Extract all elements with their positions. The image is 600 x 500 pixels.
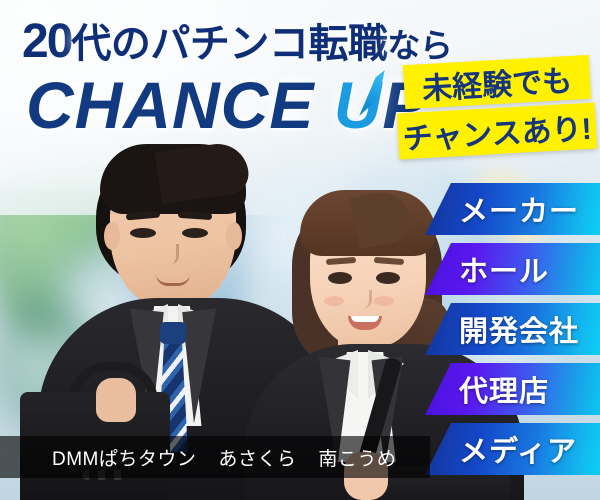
headline-number: 20 [22, 15, 71, 68]
eye [182, 228, 208, 238]
nose [166, 244, 179, 264]
credit-site-name: DMMぱちタウン [52, 444, 196, 471]
category-button-hall[interactable]: ホール [425, 243, 600, 295]
ear [104, 222, 120, 250]
ear [226, 222, 242, 250]
hand [96, 378, 136, 422]
chance-up-banner[interactable]: 20代のパチンコ転職なら CHANCE UP 未経験でも チャンスあり! メーカ… [0, 0, 600, 500]
credit-bar: DMMぱちタウン あさくら 南こうめ [0, 436, 430, 478]
headline-tail: なら [387, 27, 452, 64]
category-button-maker[interactable]: メーカー [425, 183, 600, 235]
necktie-knot [160, 322, 186, 344]
chance-up-logo: CHANCE UP [26, 72, 427, 138]
category-button-media[interactable]: メディア [425, 423, 600, 475]
credit-person-2: 南こうめ [318, 444, 396, 471]
teeth [351, 316, 379, 322]
logo-chance-text: CHANCE [26, 68, 334, 142]
category-button-agency[interactable]: 代理店 [425, 363, 600, 415]
category-list: メーカー ホール 開発会社 代理店 メディア [425, 183, 600, 475]
cheek-blush [324, 296, 344, 306]
headline: 20代のパチンコ転職なら [22, 18, 452, 66]
credit-person-1: あさくら [218, 444, 296, 471]
category-button-developer[interactable]: 開発会社 [425, 303, 600, 355]
eye [130, 228, 156, 238]
eye [328, 272, 352, 284]
logo-u-letter: U [334, 72, 383, 138]
cheek-blush [374, 296, 394, 306]
headline-middle: 代のパチンコ転職 [71, 22, 387, 66]
eye [376, 272, 400, 284]
